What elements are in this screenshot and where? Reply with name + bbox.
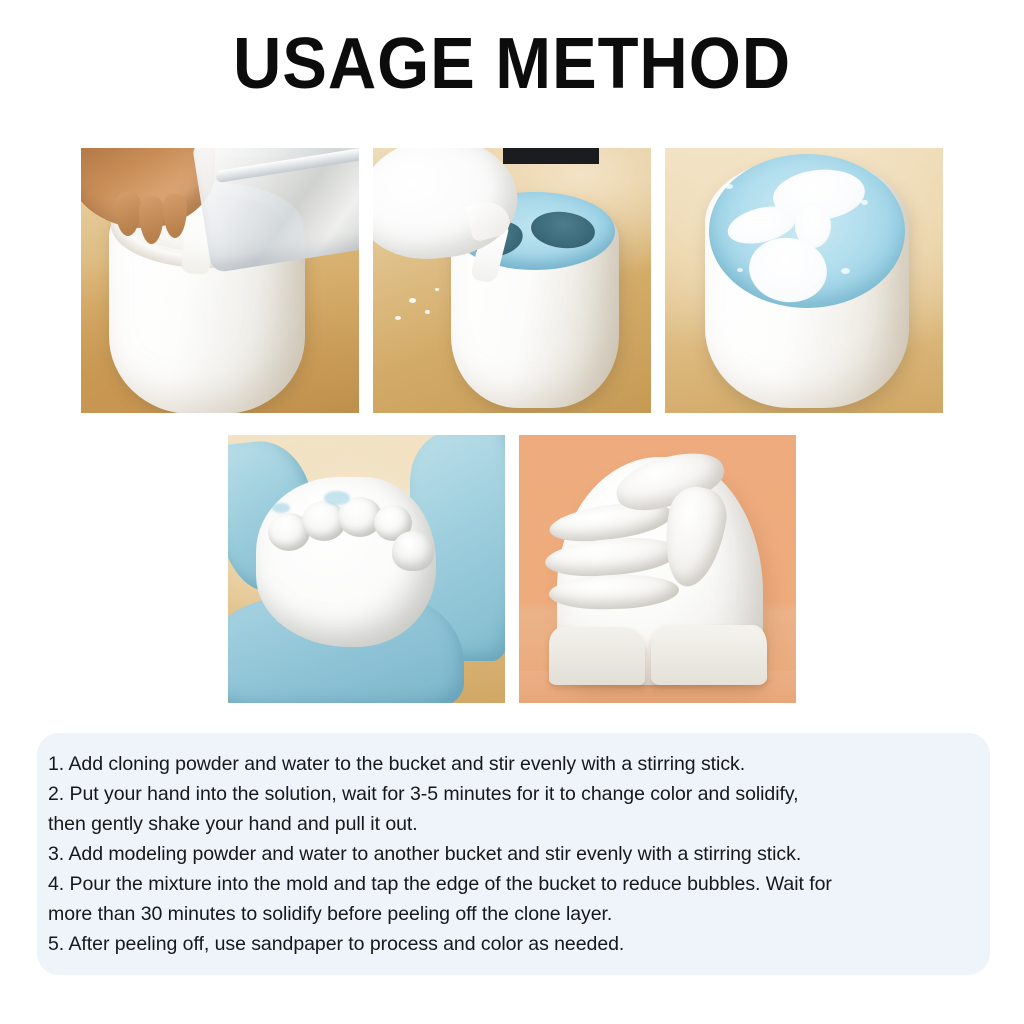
instruction-line-2: 2. Put your hand into the solution, wait…	[48, 779, 990, 809]
surface-highlight	[841, 268, 850, 274]
residual-mold-tint	[324, 491, 350, 505]
sculpture-base	[651, 625, 767, 685]
photo-row-two: White plaster hand cast being revealed a…	[0, 435, 1024, 703]
cast-thumb	[392, 531, 434, 571]
surface-highlight	[861, 200, 868, 205]
step-photo-2: Pouring white modeling plaster from a ju…	[373, 148, 651, 413]
step-photo-5: Finished white plaster sculpture of two …	[519, 435, 796, 703]
instruction-line-3: 3. Add modeling powder and water to anot…	[48, 839, 990, 869]
instruction-line-5: 5. After peeling off, use sandpaper to p…	[48, 929, 990, 959]
spill-droplet	[409, 298, 416, 303]
spill-droplet	[435, 288, 439, 291]
step-photo-1: Pouring cloning powder from a sealed bag…	[81, 148, 359, 413]
spill-droplet	[425, 310, 430, 314]
sculpture-base	[549, 627, 645, 685]
instruction-line-1: 1. Add cloning powder and water to the b…	[48, 749, 990, 779]
step-photo-3: Top view of the blue mold in the bucket …	[665, 148, 943, 413]
steps-photo-grid: Pouring cloning powder from a sealed bag…	[0, 148, 1024, 703]
step-photo-4: White plaster hand cast being revealed a…	[228, 435, 505, 703]
spill-droplet	[395, 316, 401, 320]
surface-highlight	[737, 268, 743, 272]
instruction-line-4-cont: more than 30 minutes to solidify before …	[48, 899, 990, 929]
page-title: USAGE METHOD	[36, 24, 988, 104]
photo-row-one: Pouring cloning powder from a sealed bag…	[0, 148, 1024, 413]
instruction-line-4: 4. Pour the mixture into the mold and ta…	[48, 869, 990, 899]
instruction-line-2-cont: then gently shake your hand and pull it …	[48, 809, 990, 839]
surface-highlight	[725, 184, 733, 189]
photo-background-object	[503, 148, 599, 164]
instructions-card: 1. Add cloning powder and water to the b…	[37, 733, 990, 975]
residual-mold-tint	[272, 503, 290, 513]
